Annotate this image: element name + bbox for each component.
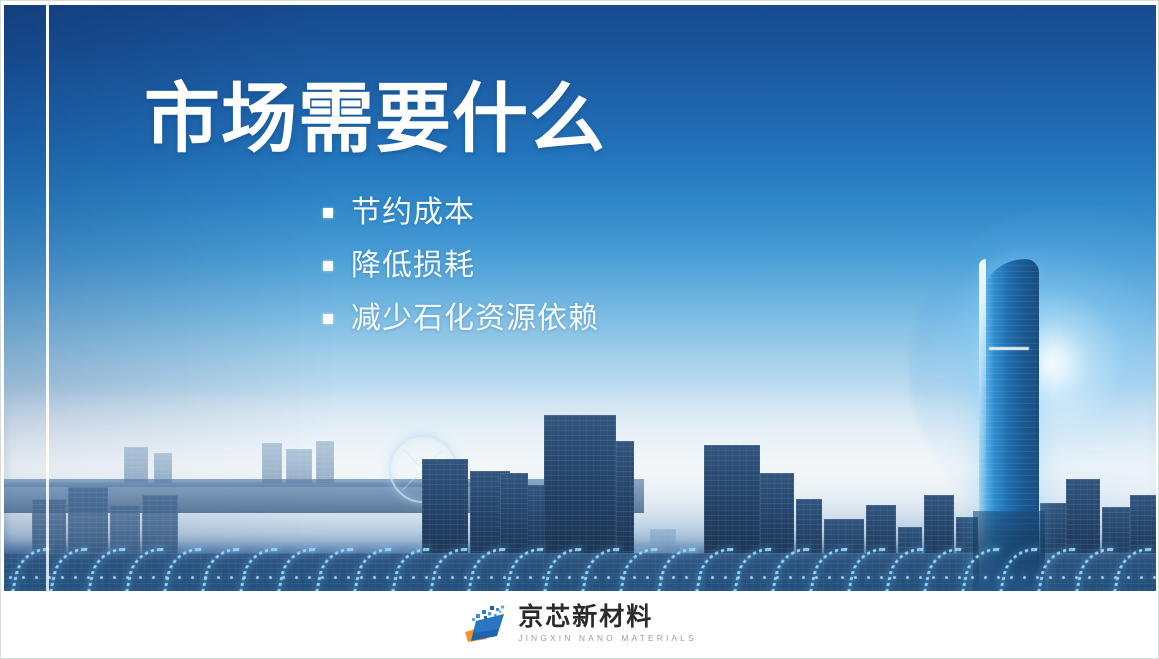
list-item: 降低损耗 [323,244,599,288]
bullet-square-icon [323,314,333,324]
logo-text-block: 京芯新材料 JINGXIN NANO MATERIALS [518,605,697,643]
slide-footer: 京芯新材料 JINGXIN NANO MATERIALS [4,592,1156,656]
presentation-slide: 市场需要什么 节约成本 降低损耗 减少石化资源依赖 [0,0,1159,659]
skyscraper-icon [979,259,1039,591]
logo-company-name-cn: 京芯新材料 [518,605,697,630]
pixel-parallelogram-logo-icon [463,605,509,643]
building-far [286,449,312,483]
bullet-square-icon [323,208,333,218]
bullet-square-icon [323,261,333,271]
list-item-label: 减少石化资源依赖 [351,297,599,341]
building-far [262,443,282,483]
building-far [124,447,148,483]
list-item: 减少石化资源依赖 [323,297,599,341]
building-far [154,453,172,483]
logo-company-name-en: JINGXIN NANO MATERIALS [518,634,697,643]
list-item: 节约成本 [323,191,599,235]
left-accent-rule [46,5,49,591]
page-title: 市场需要什么 [144,77,606,162]
list-item-label: 降低损耗 [351,244,475,288]
bullet-list: 节约成本 降低损耗 减少石化资源依赖 [323,191,599,350]
company-logo: 京芯新材料 JINGXIN NANO MATERIALS [463,605,697,643]
building-far [316,441,334,483]
list-item-label: 节约成本 [351,191,475,235]
